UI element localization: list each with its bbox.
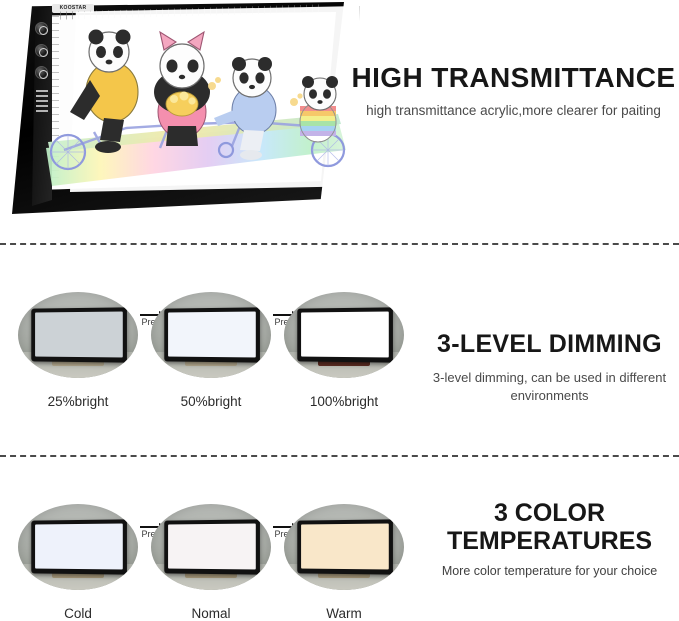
pad-mini-screen — [301, 523, 389, 569]
section2-heading: 3-LEVEL DIMMING — [420, 330, 679, 359]
section3-heading-line2: TEMPERATURES — [420, 528, 679, 556]
divider-1 — [0, 243, 679, 245]
section1-text-block: HIGH TRANSMITTANCE high transmittance ac… — [348, 62, 679, 121]
color-step-warm: Warm — [284, 504, 404, 621]
dimming-label-50: 50%bright — [151, 394, 271, 409]
pad-mini-screen — [168, 311, 256, 357]
section2-text-block: 3-LEVEL DIMMING 3-level dimming, can be … — [420, 330, 679, 406]
color-label-warm: Warm — [284, 606, 404, 621]
section-dimming: 25%bright Press 50%bright Press — [0, 252, 679, 455]
section3-text-block: 3 COLOR TEMPERATURES More color temperat… — [420, 500, 679, 580]
dimming-step-25: 25%bright — [18, 292, 138, 409]
dimming-step-100: 100%bright — [284, 292, 404, 409]
pad-mini-screen — [35, 311, 123, 357]
color-label-cold: Cold — [18, 606, 138, 621]
section-color-temperatures: Cold Press Nomal Press — [0, 464, 679, 615]
color-step-cold: Cold — [18, 504, 138, 621]
dimming-photo-100 — [284, 292, 404, 378]
pad-mini-bezel — [31, 519, 127, 574]
dimming-label-100: 100%bright — [284, 394, 404, 409]
pad-mini-bezel — [297, 519, 393, 574]
divider-2 — [0, 455, 679, 457]
color-label-normal: Nomal — [151, 606, 271, 621]
pad-mini-screen — [168, 523, 256, 569]
section2-subheading: 3-level dimming, can be used in differen… — [420, 369, 679, 407]
dimming-step-50: 50%bright — [151, 292, 271, 409]
light-pad-product-image: KOOSTAR — [8, 0, 358, 225]
color-step-normal: Nomal — [151, 504, 271, 621]
section3-heading-line1: 3 COLOR — [420, 500, 679, 528]
color-photo-cold — [18, 504, 138, 590]
pad-mini-bezel — [297, 307, 393, 362]
section1-heading: HIGH TRANSMITTANCE — [348, 62, 679, 93]
section-high-transmittance: KOOSTAR — [0, 0, 679, 233]
dimming-label-25: 25%bright — [18, 394, 138, 409]
panda-bicycle-illustration — [8, 0, 358, 225]
pad-mini-bezel — [164, 519, 260, 574]
dimming-photo-25 — [18, 292, 138, 378]
section3-subheading: More color temperature for your choice — [420, 563, 679, 580]
color-temperature-steps: Cold Press Nomal Press — [8, 464, 412, 615]
color-photo-warm — [284, 504, 404, 590]
pad-mini-screen — [35, 523, 123, 569]
pad-mini-bezel — [31, 307, 127, 362]
dimming-steps: 25%bright Press 50%bright Press — [8, 252, 412, 455]
pad-mini-bezel — [164, 307, 260, 362]
section1-subheading: high transmittance acrylic,more clearer … — [348, 102, 679, 120]
color-photo-normal — [151, 504, 271, 590]
dimming-photo-50 — [151, 292, 271, 378]
pad-mini-screen — [301, 311, 389, 357]
